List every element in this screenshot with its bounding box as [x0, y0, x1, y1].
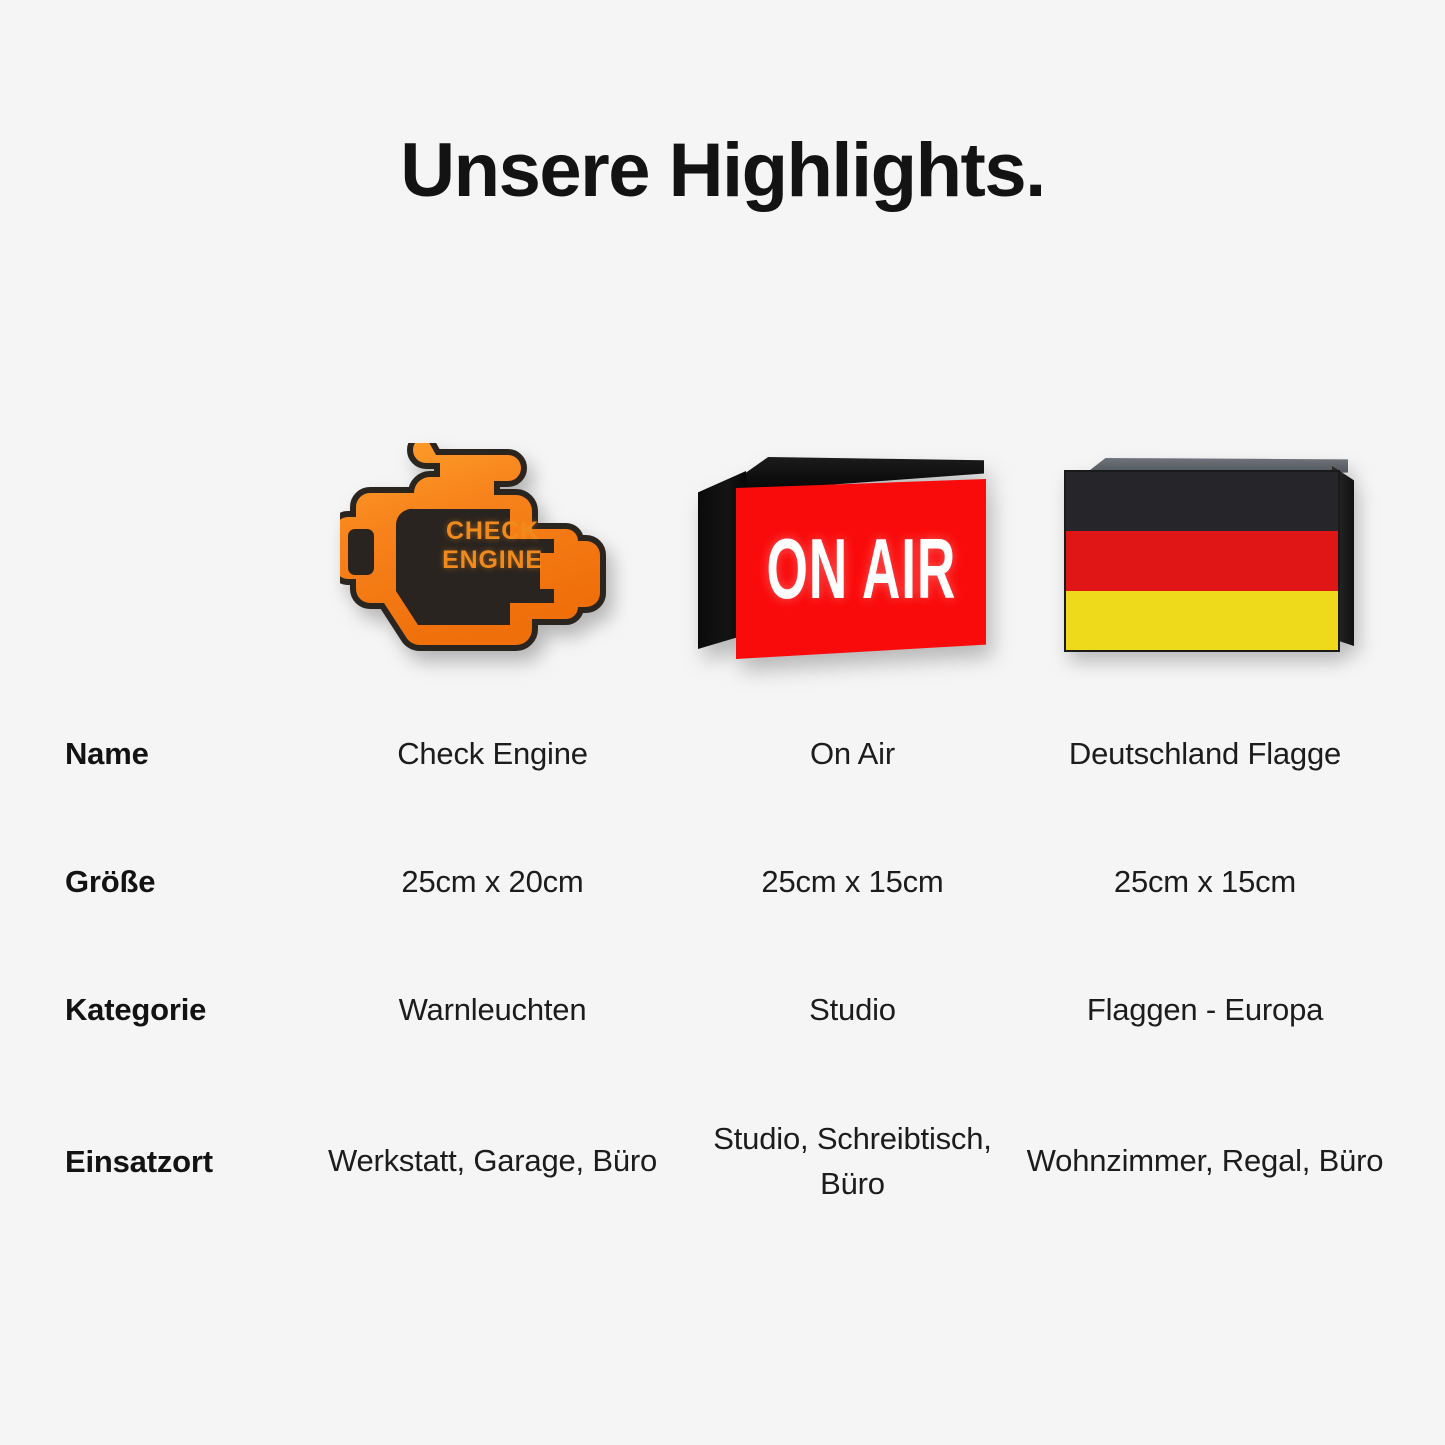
cell-name-check-engine: Check Engine [305, 732, 680, 777]
cell-groesse-on-air: 25cm x 15cm [680, 860, 1025, 905]
cell-einsatzort-on-air: Studio, Schreibtisch, Büro [680, 1117, 1025, 1207]
product-image-row: CHECK ENGINE ON AIR [0, 400, 1445, 670]
product-image-on-air[interactable]: ON AIR [672, 400, 1012, 670]
spec-comparison-table: Name Check Engine On Air Deutschland Fla… [0, 690, 1445, 1249]
table-row-kategorie: Kategorie Warnleuchten Studio Flaggen - … [0, 946, 1445, 1074]
flag-band-red [1066, 531, 1338, 590]
on-air-sign-text: ON AIR [766, 520, 956, 618]
product-image-deutschland-flagge[interactable] [1036, 400, 1376, 670]
cell-kategorie-deutschland-flagge: Flaggen - Europa [1025, 988, 1385, 1033]
on-air-box-front-face: ON AIR [736, 479, 986, 659]
check-engine-lamp-icon: CHECK ENGINE [340, 443, 645, 658]
highlights-page: Unsere Highlights. [0, 0, 1445, 1445]
cell-einsatzort-check-engine: Werkstatt, Garage, Büro [305, 1139, 680, 1184]
cell-einsatzort-deutschland-flagge: Wohnzimmer, Regal, Büro [1025, 1139, 1385, 1184]
cell-kategorie-check-engine: Warnleuchten [305, 988, 680, 1033]
cell-kategorie-on-air: Studio [680, 988, 1025, 1033]
cell-groesse-deutschland-flagge: 25cm x 15cm [1025, 860, 1385, 905]
table-row-name: Name Check Engine On Air Deutschland Fla… [0, 690, 1445, 818]
cell-name-deutschland-flagge: Deutschland Flagge [1025, 732, 1385, 777]
flag-box-front-face [1064, 470, 1340, 652]
cell-name-on-air: On Air [680, 732, 1025, 777]
on-air-lightbox-icon: ON AIR [692, 457, 992, 662]
table-row-einsatzort: Einsatzort Werkstatt, Garage, Büro Studi… [0, 1074, 1445, 1249]
page-title: Unsere Highlights. [0, 133, 1445, 209]
germany-flag-lightbox-icon [1056, 458, 1356, 654]
row-label-kategorie: Kategorie [0, 992, 305, 1028]
product-image-check-engine[interactable]: CHECK ENGINE [305, 400, 680, 670]
table-row-groesse: Größe 25cm x 20cm 25cm x 15cm 25cm x 15c… [0, 818, 1445, 946]
flag-band-black [1066, 472, 1338, 531]
cell-groesse-check-engine: 25cm x 20cm [305, 860, 680, 905]
row-label-groesse: Größe [0, 864, 305, 900]
flag-band-gold [1066, 591, 1338, 650]
row-label-einsatzort: Einsatzort [0, 1144, 305, 1180]
row-label-name: Name [0, 736, 305, 772]
